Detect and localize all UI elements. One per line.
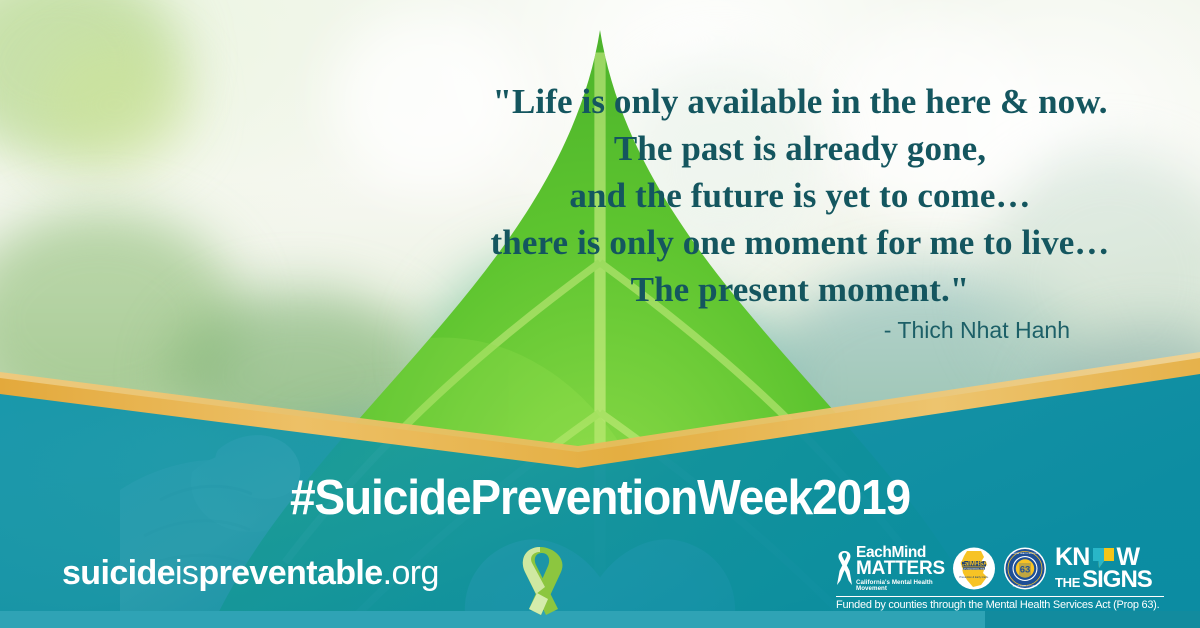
seal-ring-text-bottom: ACCOUNTABILITY COMM. xyxy=(1013,585,1038,588)
each-mind-wordmark: EachMind MATTERS California's Mental Hea… xyxy=(856,545,946,592)
funding-divider xyxy=(836,596,1164,597)
quote-line: The past is already gone, xyxy=(430,125,1170,172)
calmhsa-name: CalMHSA xyxy=(960,562,988,568)
quote-line: The present moment." xyxy=(430,266,1170,313)
each-mind-line2: MATTERS xyxy=(856,559,946,578)
logo-state-seal[interactable]: 63 MENTAL HEALTH SERVICES ACCOUNTABILITY… xyxy=(1002,547,1048,590)
funding-statement: Funded by counties through the Mental He… xyxy=(836,599,1156,611)
kts-line2: THE SIGNS xyxy=(1055,568,1153,592)
quote-line: "Life is only available in the here & no… xyxy=(430,78,1170,125)
quote-line: there is only one moment for me to live… xyxy=(430,219,1170,266)
website-url[interactable]: suicideispreventable.org xyxy=(62,553,439,593)
kts-the: THE xyxy=(1055,576,1080,589)
logo-each-mind-matters[interactable]: EachMind MATTERS California's Mental Hea… xyxy=(836,545,946,592)
url-part-preventable: preventable xyxy=(198,554,382,592)
logo-know-the-signs[interactable]: KN W THE SIGNS xyxy=(1055,545,1153,592)
url-part-is: is xyxy=(175,554,198,592)
each-mind-tagline: California's Mental Health Movement xyxy=(856,580,946,592)
url-part-suicide: suicide xyxy=(62,554,175,592)
quote-attribution: - Thich Nhat Hanh xyxy=(430,317,1070,344)
logo-row: EachMind MATTERS California's Mental Hea… xyxy=(836,546,1166,591)
footer-logo-group: EachMind MATTERS California's Mental Hea… xyxy=(836,546,1166,624)
ribbon-icon xyxy=(836,549,853,589)
poster-canvas: "Life is only available in the here & no… xyxy=(0,0,1200,628)
calmhsa-subtitle: CALIFORNIA MENTAL HEALTH xyxy=(960,567,988,570)
seal-number: 63 xyxy=(1020,565,1031,576)
quote-text: "Life is only available in the here & no… xyxy=(430,78,1170,313)
url-part-org: .org xyxy=(383,554,439,592)
ribbon-icon xyxy=(505,541,575,623)
calmhsa-footer: Prevention & Early Interv. xyxy=(959,575,988,579)
logo-calmhsa[interactable]: CalMHSA CALIFORNIA MENTAL HEALTH Prevent… xyxy=(951,547,997,590)
kts-signs: SIGNS xyxy=(1082,568,1152,592)
quote-line: and the future is yet to come… xyxy=(430,172,1170,219)
seal-ring-text: MENTAL HEALTH SERVICES xyxy=(1012,552,1039,555)
hashtag-headline: #SuicidePreventionWeek2019 xyxy=(36,470,1164,526)
